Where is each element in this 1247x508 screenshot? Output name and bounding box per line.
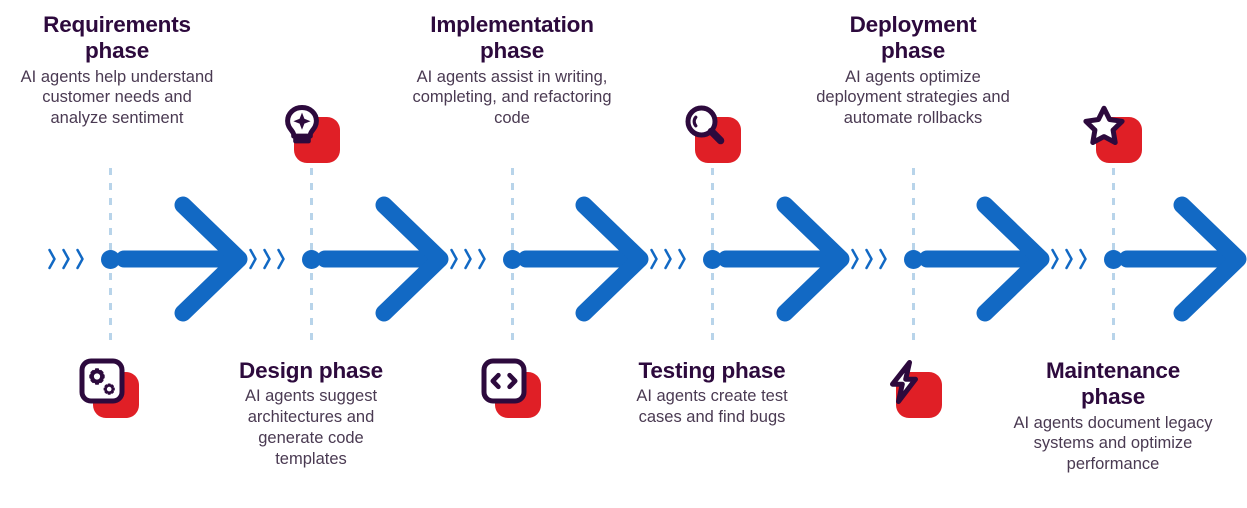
connector-dashed-line xyxy=(711,168,714,348)
phase-description-maintenance: AI agents document legacy systems and op… xyxy=(998,413,1228,475)
phase-icon-badge-testing[interactable] xyxy=(681,103,743,165)
chevron-icon xyxy=(251,250,256,268)
phase-column-testing: Testing phaseAI agents create test cases… xyxy=(597,358,827,428)
phase-heading-requirements: Requirementsphase xyxy=(2,12,232,65)
connector-dashed-line xyxy=(511,168,514,348)
chevron-icon xyxy=(1067,250,1072,268)
phase-column-requirements: RequirementsphaseAI agents help understa… xyxy=(2,12,232,129)
connector-dashed-line xyxy=(1112,168,1115,348)
arrow-head xyxy=(985,205,1041,313)
chevron-icon xyxy=(279,250,284,268)
timeline-node-dot[interactable] xyxy=(302,250,321,269)
lifecycle-diagram: RequirementsphaseAI agents help understa… xyxy=(0,0,1247,503)
phase-description-deployment: AI agents optimize deployment strategies… xyxy=(798,67,1028,129)
phase-description-design: AI agents suggest architectures and gene… xyxy=(196,386,426,469)
phase-description-requirements: AI agents help understand customer needs… xyxy=(2,67,232,129)
chevron-icon xyxy=(1081,250,1086,268)
timeline-node-dot[interactable] xyxy=(703,250,722,269)
arrow-head xyxy=(1182,205,1238,313)
connector-dashed-line xyxy=(109,168,112,348)
phase-heading-deployment: Deploymentphase xyxy=(798,12,1028,65)
connector-dashed-line xyxy=(912,168,915,348)
phase-icon-badge-design[interactable] xyxy=(280,103,342,165)
chevron-icon xyxy=(480,250,485,268)
chevron-icon xyxy=(50,250,55,268)
chevron-icon xyxy=(1053,250,1058,268)
phase-column-maintenance: MaintenancephaseAI agents document legac… xyxy=(998,358,1228,475)
magnifier-icon xyxy=(681,103,737,159)
phase-icon-badge-requirements[interactable] xyxy=(79,358,141,420)
chevron-icon xyxy=(64,250,69,268)
phase-description-testing: AI agents create test cases and find bug… xyxy=(597,386,827,428)
chevron-icon xyxy=(881,250,886,268)
timeline-node-dot[interactable] xyxy=(904,250,923,269)
phase-column-design: Design phaseAI agents suggest architectu… xyxy=(196,358,426,469)
phase-heading-implementation: Implementationphase xyxy=(397,12,627,65)
arrow-head xyxy=(384,205,440,313)
arrow-head xyxy=(183,205,239,313)
phase-heading-line1: Maintenance xyxy=(998,358,1228,384)
phase-icon-badge-maintenance[interactable] xyxy=(1082,103,1144,165)
timeline-node-dot[interactable] xyxy=(101,250,120,269)
phase-heading-line2: phase xyxy=(397,38,627,64)
chevron-icon xyxy=(452,250,457,268)
lightbulb-sparkle-icon xyxy=(280,103,336,159)
star-icon xyxy=(1082,103,1138,159)
phase-heading-line1: Requirements xyxy=(2,12,232,38)
phase-heading-line1: Implementation xyxy=(397,12,627,38)
chevron-icon xyxy=(78,250,83,268)
phase-description-implementation: AI agents assist in writing, completing,… xyxy=(397,67,627,129)
code-brackets-icon xyxy=(481,358,537,414)
phase-heading-line2: phase xyxy=(998,384,1228,410)
timeline-node-dot[interactable] xyxy=(503,250,522,269)
phase-icon-badge-implementation[interactable] xyxy=(481,358,543,420)
phase-column-implementation: ImplementationphaseAI agents assist in w… xyxy=(397,12,627,129)
phase-heading-design: Design phase xyxy=(196,358,426,384)
chevron-icon xyxy=(652,250,657,268)
chevron-icon xyxy=(867,250,872,268)
phase-heading-line2: phase xyxy=(2,38,232,64)
lightning-bolt-icon xyxy=(882,358,938,414)
gears-icon xyxy=(79,358,135,414)
chevron-icon xyxy=(853,250,858,268)
chevron-icon xyxy=(265,250,270,268)
phase-column-deployment: DeploymentphaseAI agents optimize deploy… xyxy=(798,12,1028,129)
chevron-icon xyxy=(666,250,671,268)
connector-dashed-line xyxy=(310,168,313,348)
phase-heading-line1: Deployment xyxy=(798,12,1028,38)
arrow-head xyxy=(584,205,640,313)
phase-heading-maintenance: Maintenancephase xyxy=(998,358,1228,411)
timeline-node-dot[interactable] xyxy=(1104,250,1123,269)
chevron-icon xyxy=(680,250,685,268)
phase-heading-testing: Testing phase xyxy=(597,358,827,384)
chevron-icon xyxy=(466,250,471,268)
phase-icon-badge-deployment[interactable] xyxy=(882,358,944,420)
phase-heading-line2: phase xyxy=(798,38,1028,64)
arrow-head xyxy=(785,205,841,313)
